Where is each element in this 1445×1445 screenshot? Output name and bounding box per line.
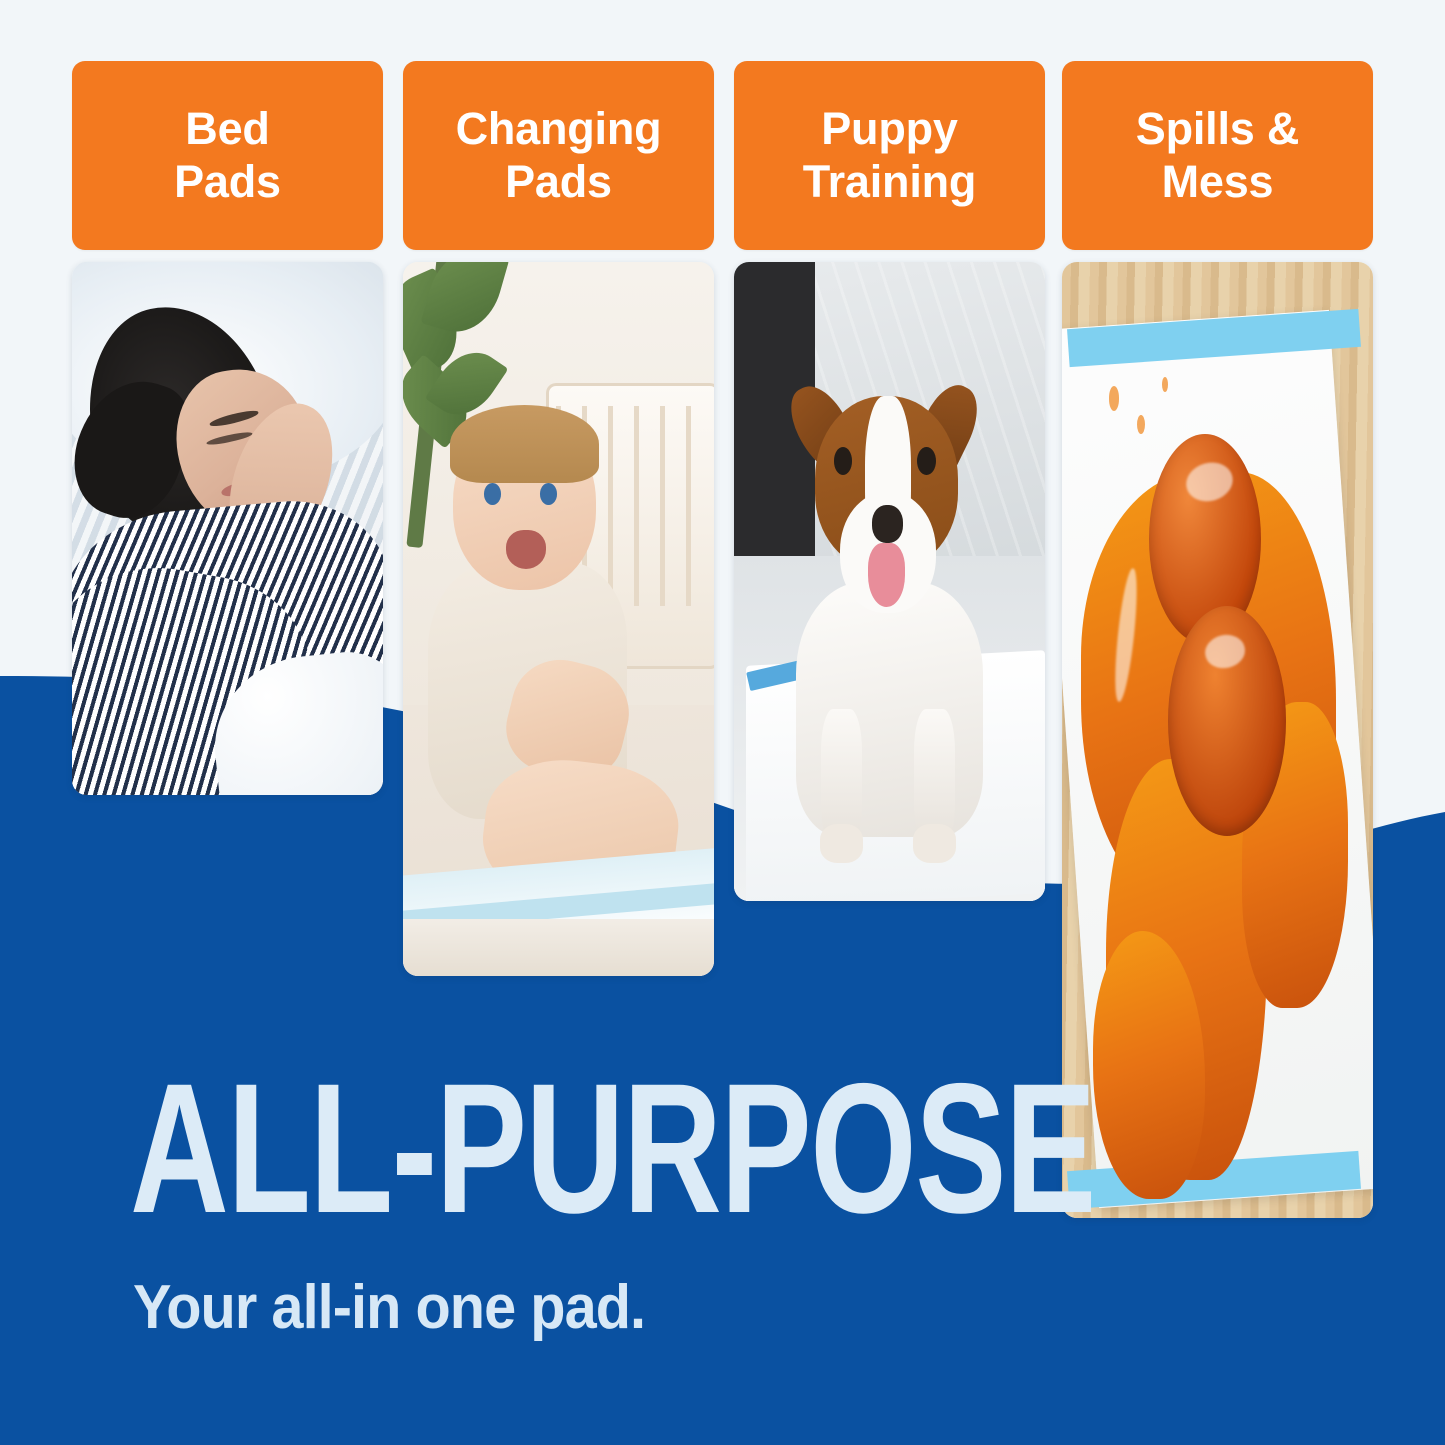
baby-open-mouth	[506, 530, 546, 569]
photo-card-baby-changing	[403, 262, 714, 976]
photo-baby-sitting-on-changing-pad	[403, 262, 714, 976]
caramel-droplet	[1137, 415, 1145, 434]
puppy-nose-shape	[872, 505, 903, 543]
photo-card-spills-mess	[1062, 262, 1373, 1218]
baby-eye-right	[540, 483, 557, 504]
photo-caramel-spill-on-pad	[1062, 262, 1373, 1218]
caramel-droplet	[1162, 377, 1168, 392]
puppy-paw-left	[820, 824, 864, 862]
photo-card-puppy-training	[734, 262, 1045, 901]
photo-puppy-sitting-on-training-pad	[734, 262, 1045, 901]
caramel-droplet	[1109, 386, 1120, 411]
infographic-canvas: Bed Pads Changing Pads Puppy Training Sp…	[0, 0, 1445, 1445]
baby-eye-left	[484, 483, 501, 504]
puppy-tongue-shape	[868, 543, 905, 607]
baby-hair-shape	[450, 405, 599, 484]
nursery-floor	[403, 919, 714, 976]
photo-card-row	[0, 0, 1445, 1445]
photo-woman-sleeping-on-bed-pad	[72, 262, 383, 795]
puppy-paw-right	[913, 824, 957, 862]
photo-card-woman-sleeping	[72, 262, 383, 795]
